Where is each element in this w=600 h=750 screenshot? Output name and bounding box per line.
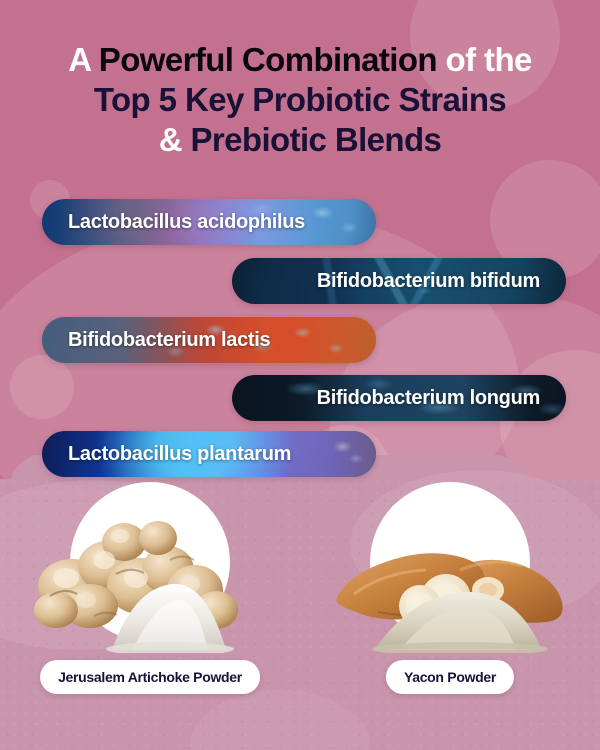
strain-pill-lactobacillus-acidophilus[interactable]: Lactobacillus acidophilus	[42, 199, 376, 245]
strain-name-label: Lactobacillus plantarum	[42, 443, 291, 466]
jerusalem-artichoke-illustration	[20, 478, 280, 653]
title-line-1-part-1: A	[68, 41, 99, 78]
title-line-1-part-2: Powerful Combination	[99, 41, 437, 78]
product-label: Jerusalem Artichoke Powder	[40, 660, 260, 694]
page-title: A Powerful Combination of the Top 5 Key …	[0, 42, 600, 159]
decorative-circle	[10, 355, 74, 419]
strain-pill-bifidobacterium-longum[interactable]: Bifidobacterium longum	[232, 375, 566, 421]
strain-name-label: Bifidobacterium lactis	[42, 329, 270, 352]
strain-name-label: Bifidobacterium longum	[317, 387, 566, 410]
yacon-root-illustration	[320, 478, 580, 653]
title-line-3-ampersand: &	[159, 121, 191, 158]
infographic-poster: A Powerful Combination of the Top 5 Key …	[0, 0, 600, 750]
title-line-1: A Powerful Combination of the	[0, 42, 600, 79]
title-line-3: & Prebiotic Blends	[0, 122, 600, 159]
title-line-1-part-3: of the	[437, 41, 532, 78]
strain-name-label: Lactobacillus acidophilus	[42, 211, 305, 234]
title-line-3-part-2: Prebiotic Blends	[191, 121, 442, 158]
strain-pill-lactobacillus-plantarum[interactable]: Lactobacillus plantarum	[42, 431, 376, 477]
strain-pill-bifidobacterium-bifidum[interactable]: Bifidobacterium bifidum	[232, 258, 566, 304]
strain-pill-bifidobacterium-lactis[interactable]: Bifidobacterium lactis	[42, 317, 376, 363]
product-label: Yacon Powder	[386, 660, 514, 694]
title-line-2: Top 5 Key Probiotic Strains	[0, 82, 600, 119]
strain-name-label: Bifidobacterium bifidum	[317, 270, 566, 293]
